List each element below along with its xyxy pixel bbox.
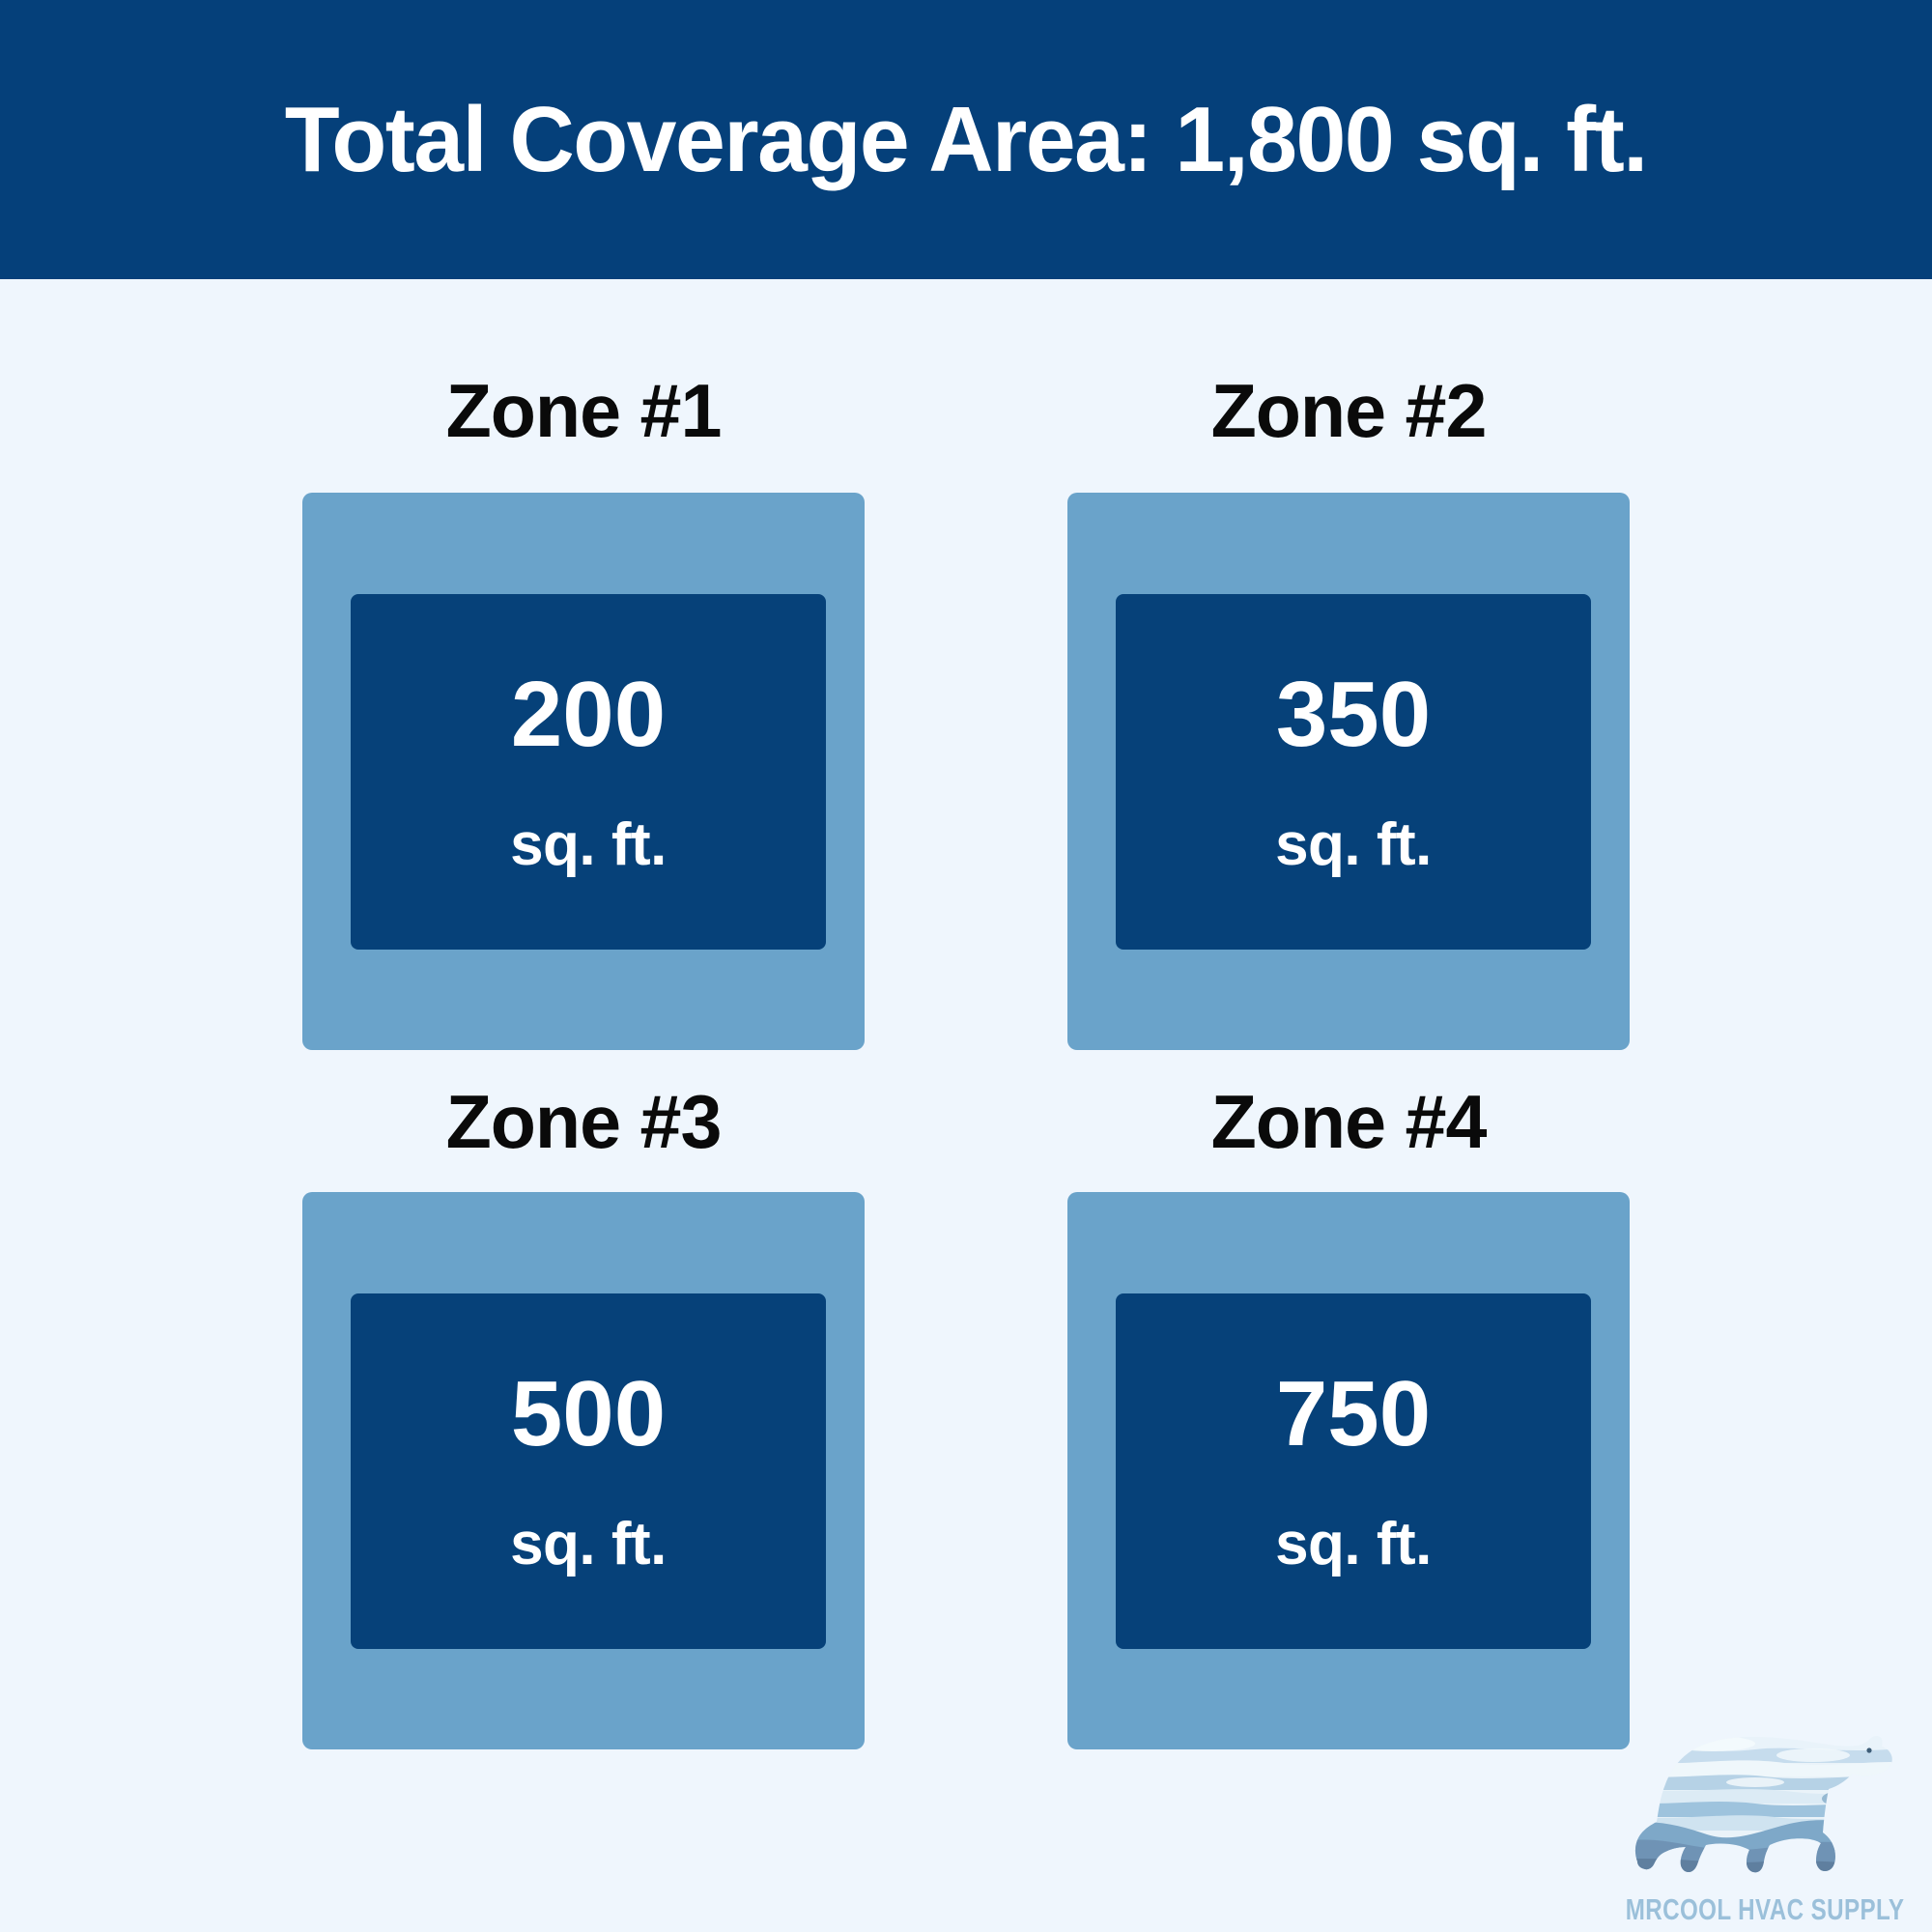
zone-value-4: 750 [1276, 1368, 1431, 1461]
zone-unit-4: sq. ft. [1275, 1515, 1432, 1575]
brand-name: MRCOOL HVAC SUPPLY [1626, 1894, 1905, 1924]
zone-inner-panel-2: 350 sq. ft. [1116, 594, 1591, 950]
zone-row-bottom: Zone #3 500 sq. ft. Zone #4 750 sq. ft. [302, 1050, 1630, 1749]
zone-label-3: Zone #3 [305, 1050, 862, 1192]
zone-card-2[interactable]: 350 sq. ft. [1067, 493, 1630, 1050]
zone-label-2: Zone #2 [1070, 328, 1627, 493]
page-title: Total Coverage Area: 1,800 sq. ft. [285, 94, 1647, 186]
zone-block-2: Zone #2 350 sq. ft. [1067, 328, 1630, 1050]
zone-card-3[interactable]: 500 sq. ft. [302, 1192, 865, 1749]
infographic-page: Total Coverage Area: 1,800 sq. ft. Zone … [0, 0, 1932, 1932]
zone-unit-2: sq. ft. [1275, 815, 1432, 875]
brand-logo: MRCOOL HVAC SUPPLY [1605, 1683, 1924, 1924]
zone-value-1: 200 [511, 668, 666, 761]
zone-unit-1: sq. ft. [510, 815, 667, 875]
zone-unit-3: sq. ft. [510, 1515, 667, 1575]
zone-block-4: Zone #4 750 sq. ft. [1067, 1050, 1630, 1749]
zone-inner-panel-3: 500 sq. ft. [351, 1293, 826, 1649]
zone-row-top: Zone #1 200 sq. ft. Zone #2 350 sq. ft. [302, 328, 1630, 1050]
zone-card-4[interactable]: 750 sq. ft. [1067, 1192, 1630, 1749]
zone-block-1: Zone #1 200 sq. ft. [302, 328, 865, 1050]
zone-inner-panel-1: 200 sq. ft. [351, 594, 826, 950]
zone-card-1[interactable]: 200 sq. ft. [302, 493, 865, 1050]
polar-bear-icon [1620, 1707, 1910, 1890]
zone-inner-panel-4: 750 sq. ft. [1116, 1293, 1591, 1649]
zone-block-3: Zone #3 500 sq. ft. [302, 1050, 865, 1749]
zone-value-2: 350 [1276, 668, 1431, 761]
zone-label-1: Zone #1 [305, 328, 862, 493]
zone-grid: Zone #1 200 sq. ft. Zone #2 350 sq. ft. [302, 328, 1630, 1749]
header-banner: Total Coverage Area: 1,800 sq. ft. [0, 0, 1932, 279]
zone-value-3: 500 [511, 1368, 666, 1461]
zone-label-4: Zone #4 [1070, 1050, 1627, 1192]
